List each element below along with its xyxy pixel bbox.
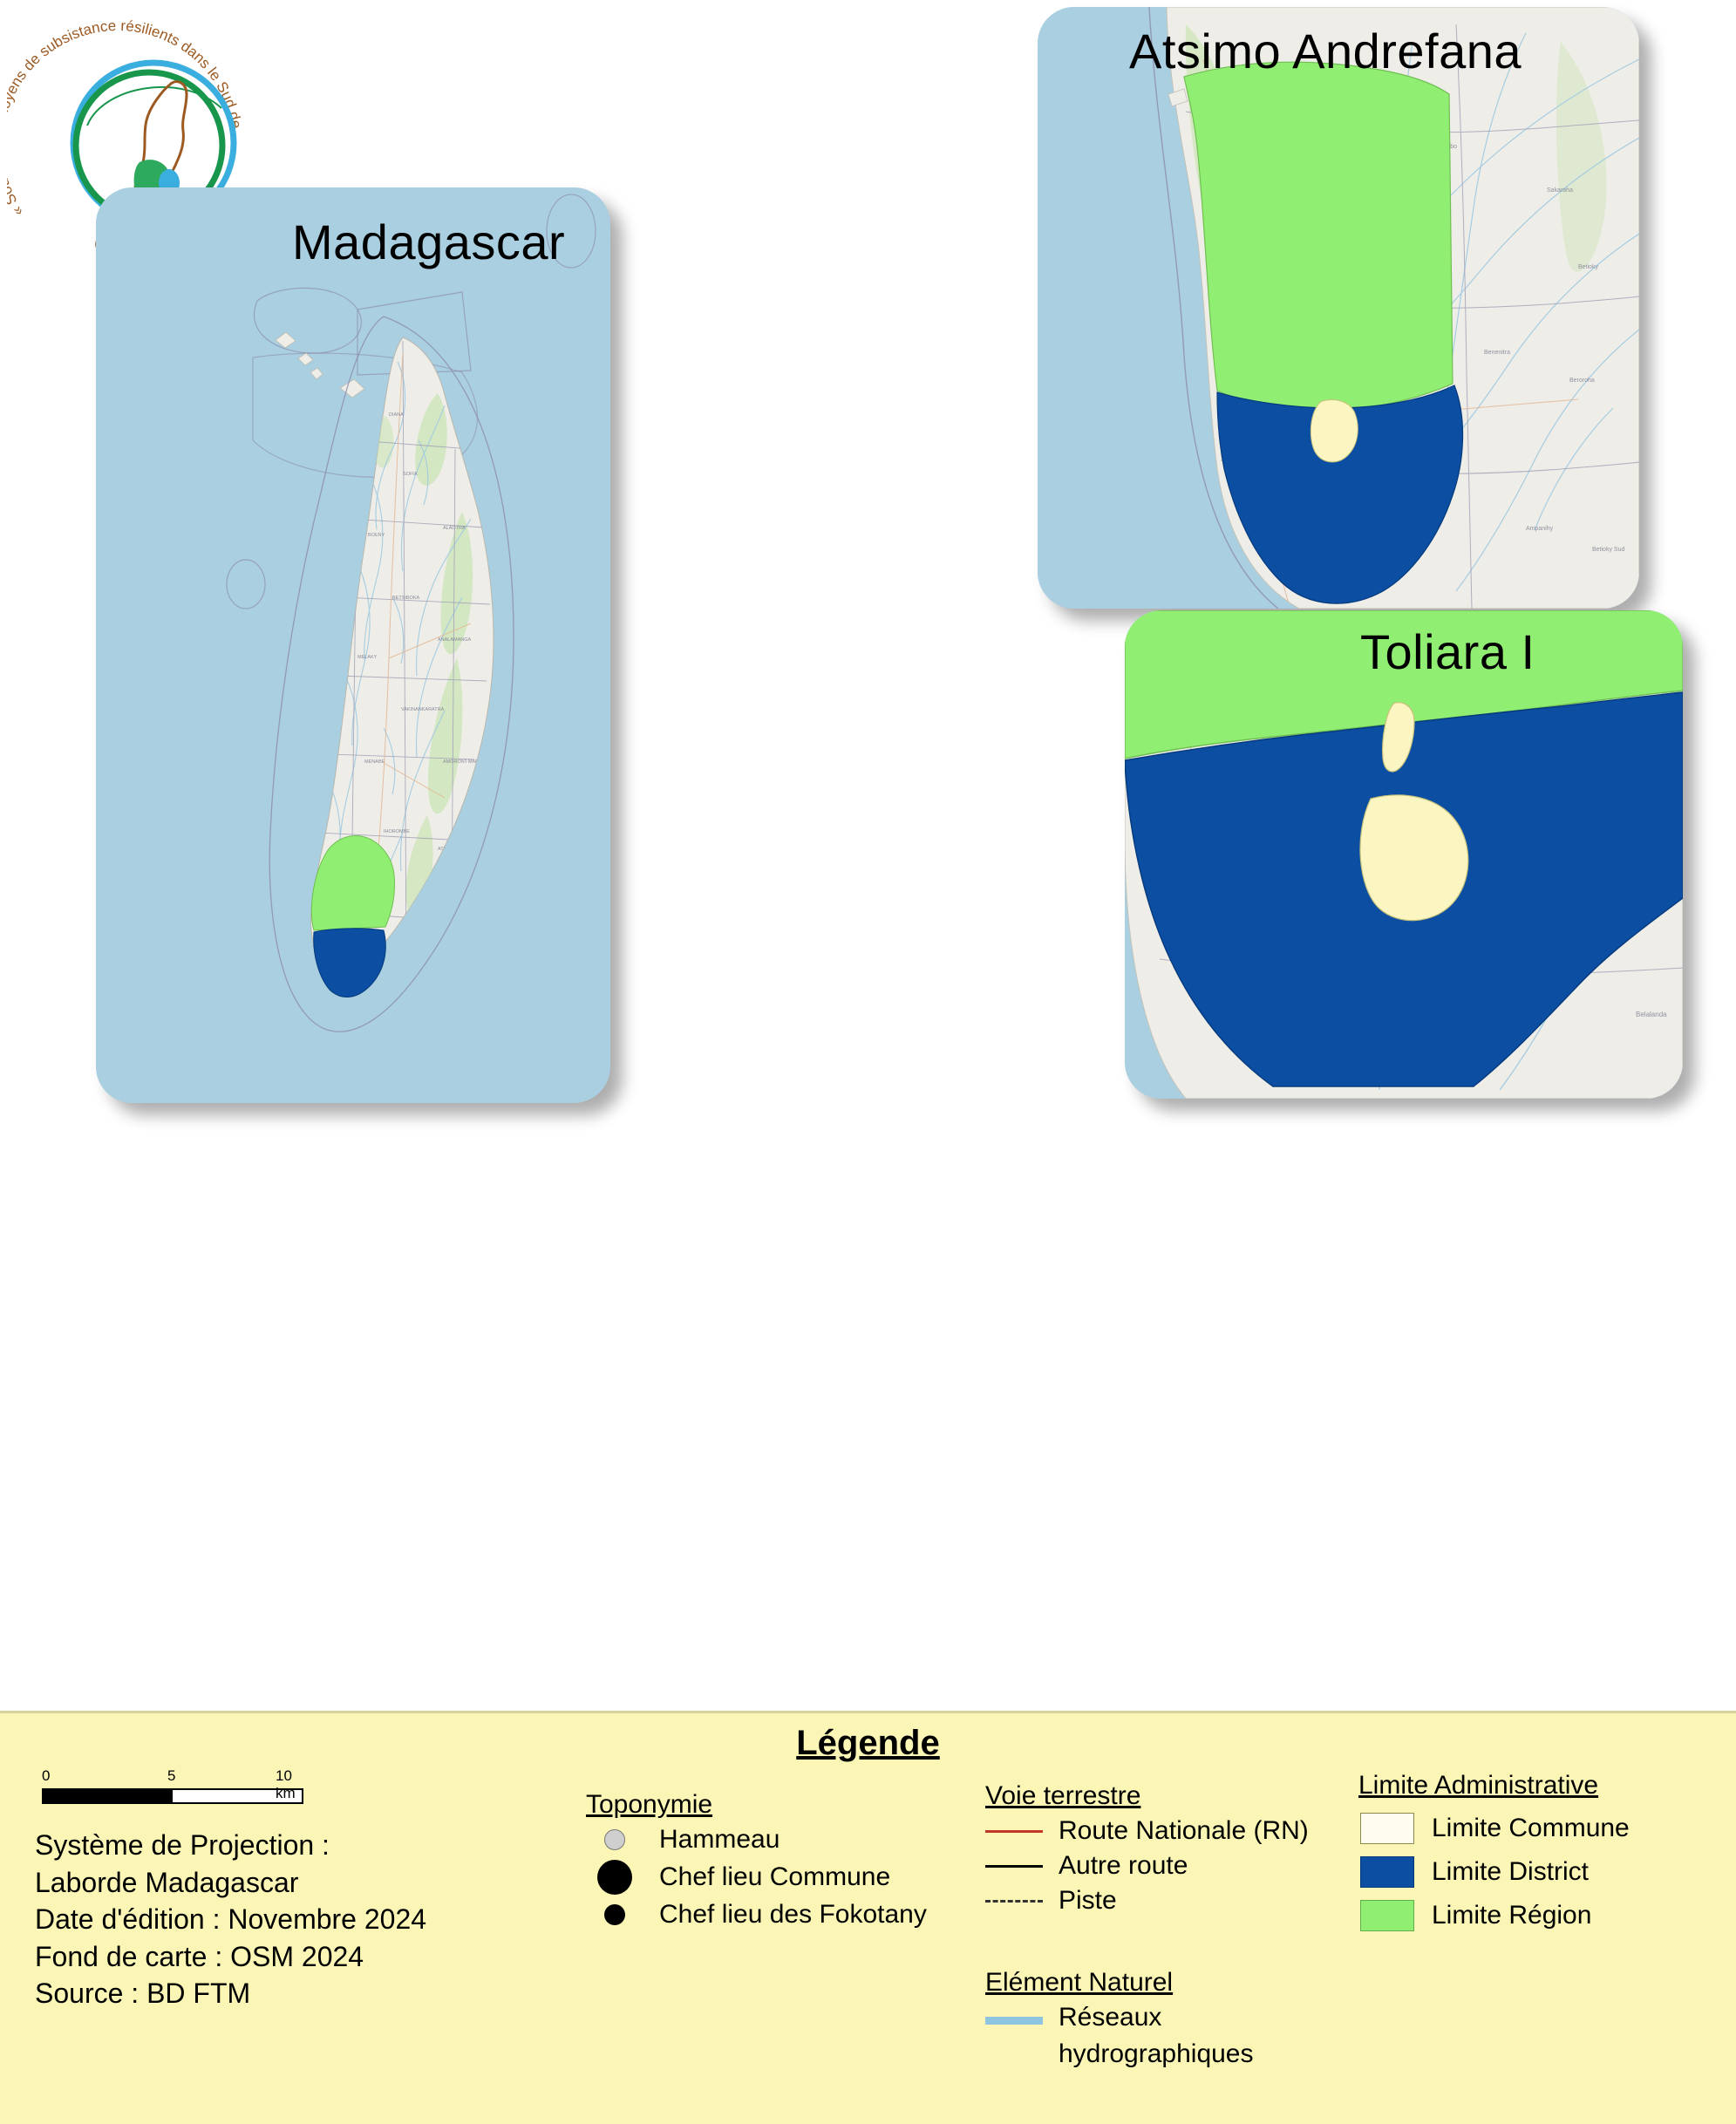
svg-text:MENABE: MENABE	[364, 759, 385, 765]
scale-bar: 0 5 10 km	[42, 1767, 303, 1804]
element-naturel-heading: Elément Naturel	[985, 1968, 1254, 1998]
projection-value: Laborde Madagascar	[35, 1864, 426, 1902]
legend-item-limite-region: Limite Région	[1358, 1900, 1630, 1931]
svg-text:BETSIBOKA: BETSIBOKA	[392, 596, 420, 601]
limite-administrative-heading: Limite Administrative	[1358, 1771, 1630, 1801]
legend-section-element-naturel: Elément Naturel Réseaux hydrographiques	[985, 1968, 1254, 2069]
autre-route-line-icon	[985, 1865, 1043, 1868]
legend-label: Limite Commune	[1432, 1814, 1630, 1843]
commune-swatch-icon	[1358, 1813, 1416, 1844]
hydro-line-icon	[985, 2003, 1043, 2025]
map-panel-madagascar[interactable]: DIANA SOFIA BOENY ALAOTRA BETSIBOKA MELA…	[96, 187, 610, 1103]
svg-text:MELAKY: MELAKY	[357, 655, 378, 660]
svg-text:SOFIA: SOFIA	[403, 472, 418, 477]
svg-text:IHOROMBE: IHOROMBE	[384, 829, 410, 834]
legend-item-piste: Piste	[985, 1886, 1309, 1916]
toliara-map-svg: Miary Belalanda Andranovory	[1125, 610, 1683, 1099]
map-title-atsimo-andrefana: Atsimo Andrefana	[1129, 23, 1522, 79]
scale-segment-dark	[44, 1790, 173, 1802]
legend-item-reseaux-hydrographiques: Réseaux hydrographiques	[985, 2003, 1254, 2069]
edition-date: Date d'édition : Novembre 2024	[35, 1901, 426, 1938]
legend-item-route-nationale: Route Nationale (RN)	[985, 1816, 1309, 1846]
madagascar-map-svg: DIANA SOFIA BOENY ALAOTRA BETSIBOKA MELA…	[96, 187, 610, 1103]
legend-label: Autre route	[1059, 1851, 1188, 1881]
legend-label: Limite District	[1432, 1857, 1589, 1887]
legend-label: Route Nationale (RN)	[1059, 1816, 1309, 1846]
district-swatch-icon	[1358, 1856, 1416, 1888]
scale-tick-0: 0	[42, 1767, 50, 1785]
atsimo-andrefana-map-svg: Mahaboboka Ankazoabo Sakaraha Betioky Be…	[1038, 7, 1639, 609]
data-source: Source : BD FTM	[35, 1975, 426, 2012]
legend-item-chef-lieu-fokotany: Chef lieu des Fokotany	[586, 1900, 927, 1930]
legend-label-line2: hydrographiques	[1059, 2039, 1254, 2069]
legend-section-voie-terrestre: Voie terrestre Route Nationale (RN) Autr…	[985, 1781, 1309, 1916]
map-panel-toliara-i[interactable]: Miary Belalanda Andranovory Toliara I	[1125, 610, 1683, 1099]
legend-item-limite-district: Limite District	[1358, 1856, 1630, 1888]
legend-title: Légende	[0, 1724, 1736, 1763]
svg-text:Belalanda: Belalanda	[1636, 1011, 1667, 1018]
map-title-toliara-i: Toliara I	[1360, 623, 1535, 680]
legend-label: Chef lieu des Fokotany	[659, 1900, 927, 1930]
legend-label-line1: Réseaux	[1059, 2003, 1254, 2032]
fokotany-dot-icon	[586, 1904, 643, 1925]
legend-panel: Légende 0 5 10 km Système de Projection …	[0, 1711, 1736, 2124]
svg-text:ALAOTRA: ALAOTRA	[443, 526, 466, 531]
legend-item-limite-commune: Limite Commune	[1358, 1813, 1630, 1844]
legend-section-toponymie: Toponymie Hammeau Chef lieu Commune Chef…	[586, 1790, 927, 1930]
projection-label: Système de Projection :	[35, 1827, 426, 1864]
svg-text:Betioky Sud: Betioky Sud	[1592, 547, 1624, 553]
svg-text:Benenitra: Benenitra	[1484, 350, 1510, 356]
scale-tick-10: 10 km	[276, 1767, 303, 1802]
svg-text:Ampanihy: Ampanihy	[1526, 526, 1554, 532]
map-metadata: Système de Projection : Laborde Madagasc…	[35, 1827, 426, 2012]
hammeau-dot-icon	[586, 1829, 643, 1850]
basemap-source: Fond de carte : OSM 2024	[35, 1938, 426, 1976]
svg-text:Beroroha: Beroroha	[1569, 378, 1595, 384]
voie-terrestre-heading: Voie terrestre	[985, 1781, 1309, 1811]
legend-item-chef-lieu-commune: Chef lieu Commune	[586, 1860, 927, 1895]
legend-label: Limite Région	[1432, 1901, 1591, 1930]
map-title-madagascar: Madagascar	[292, 214, 565, 270]
svg-text:ANALAMANGA: ANALAMANGA	[438, 637, 472, 643]
region-highlight-atsimo-andrefana	[1184, 62, 1453, 410]
map-panel-atsimo-andrefana[interactable]: Mahaboboka Ankazoabo Sakaraha Betioky Be…	[1038, 7, 1639, 609]
region-swatch-icon	[1358, 1900, 1416, 1931]
scale-tick-5: 5	[167, 1767, 175, 1785]
svg-text:Sakaraha: Sakaraha	[1547, 187, 1573, 194]
svg-text:Betioky: Betioky	[1578, 264, 1598, 270]
route-nationale-line-icon	[985, 1830, 1043, 1833]
commune-dot-icon	[586, 1860, 643, 1895]
legend-label: Piste	[1059, 1886, 1117, 1916]
legend-item-hammeau: Hammeau	[586, 1825, 927, 1855]
legend-label: Chef lieu Commune	[659, 1862, 890, 1892]
svg-text:VAKINANKARATRA: VAKINANKARATRA	[401, 707, 445, 712]
svg-text:BOENY: BOENY	[368, 533, 385, 538]
piste-line-icon	[985, 1900, 1043, 1903]
map-poster: « Soutien aux moyens de subsistance rési…	[0, 0, 1736, 2124]
legend-item-autre-route: Autre route	[985, 1851, 1309, 1881]
legend-section-limite-administrative: Limite Administrative Limite Commune Lim…	[1358, 1771, 1630, 1931]
svg-text:DIANA: DIANA	[389, 412, 404, 418]
legend-label: Hammeau	[659, 1825, 779, 1855]
toponymie-heading: Toponymie	[586, 1790, 927, 1820]
